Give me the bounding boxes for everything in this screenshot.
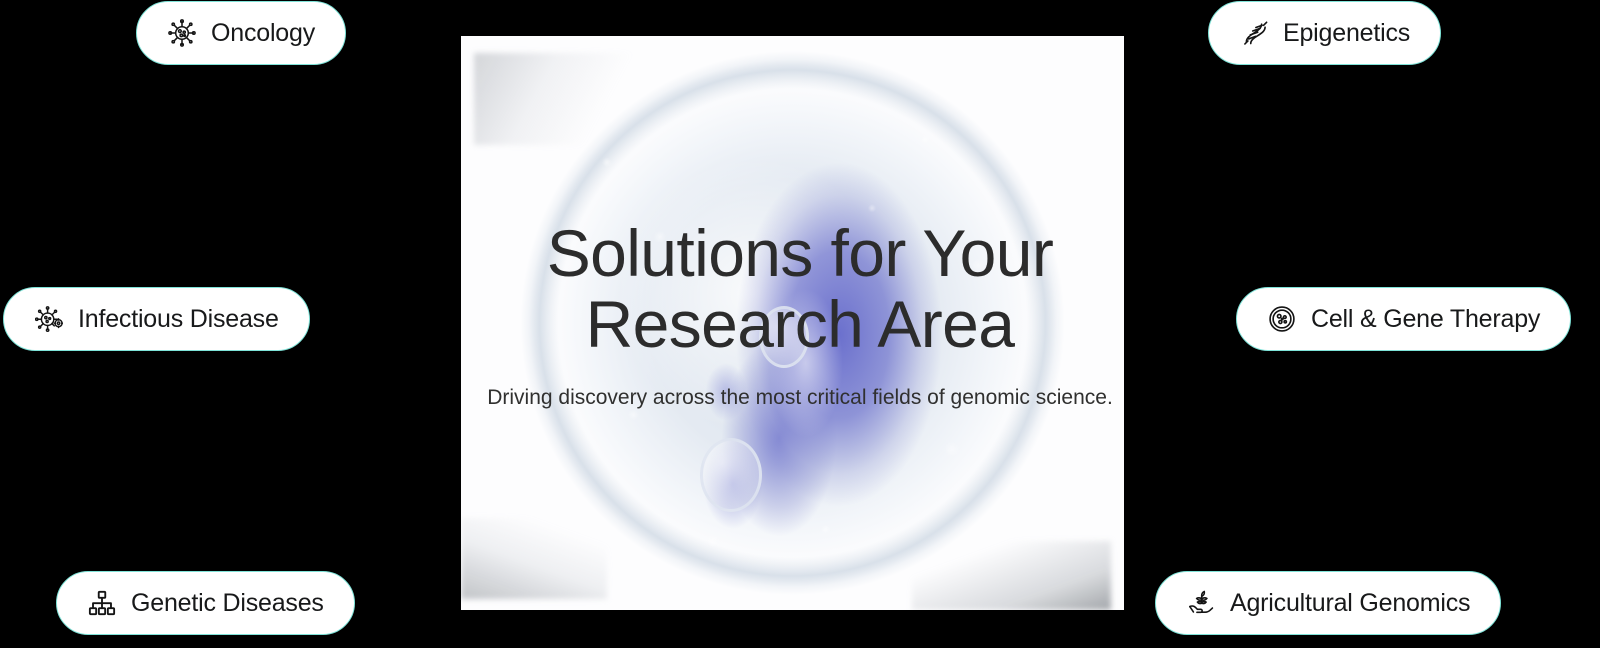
research-area-pill-epigenetics[interactable]: Epigenetics bbox=[1208, 1, 1441, 65]
cell-icon bbox=[1267, 304, 1297, 334]
cell-vacuole bbox=[759, 306, 809, 368]
dna-helix-icon bbox=[1239, 18, 1269, 48]
research-area-pill-infectious-disease[interactable]: Infectious Disease bbox=[3, 287, 310, 351]
research-area-label: Epigenetics bbox=[1283, 19, 1410, 48]
hero-cell-image bbox=[461, 36, 1124, 610]
research-area-pill-genetic-diseases[interactable]: Genetic Diseases bbox=[56, 571, 355, 635]
research-area-label: Oncology bbox=[211, 19, 315, 48]
research-area-pill-oncology[interactable]: Oncology bbox=[136, 1, 346, 65]
research-area-label: Agricultural Genomics bbox=[1230, 589, 1470, 618]
research-area-pill-agricultural-genomics[interactable]: Agricultural Genomics bbox=[1155, 571, 1501, 635]
research-area-pill-cell-gene-therapy[interactable]: Cell & Gene Therapy bbox=[1236, 287, 1571, 351]
cell-vacuole bbox=[700, 438, 762, 512]
image-smudge bbox=[461, 518, 607, 598]
cancer-cell-icon bbox=[167, 18, 197, 48]
virus-icon bbox=[34, 304, 64, 334]
research-area-label: Cell & Gene Therapy bbox=[1311, 305, 1540, 334]
research-area-label: Infectious Disease bbox=[78, 305, 279, 334]
image-smudge bbox=[912, 541, 1111, 610]
research-area-label: Genetic Diseases bbox=[131, 589, 324, 618]
hand-sprout-icon bbox=[1186, 588, 1216, 618]
image-smudge bbox=[474, 53, 646, 145]
sitemap-icon bbox=[87, 588, 117, 618]
